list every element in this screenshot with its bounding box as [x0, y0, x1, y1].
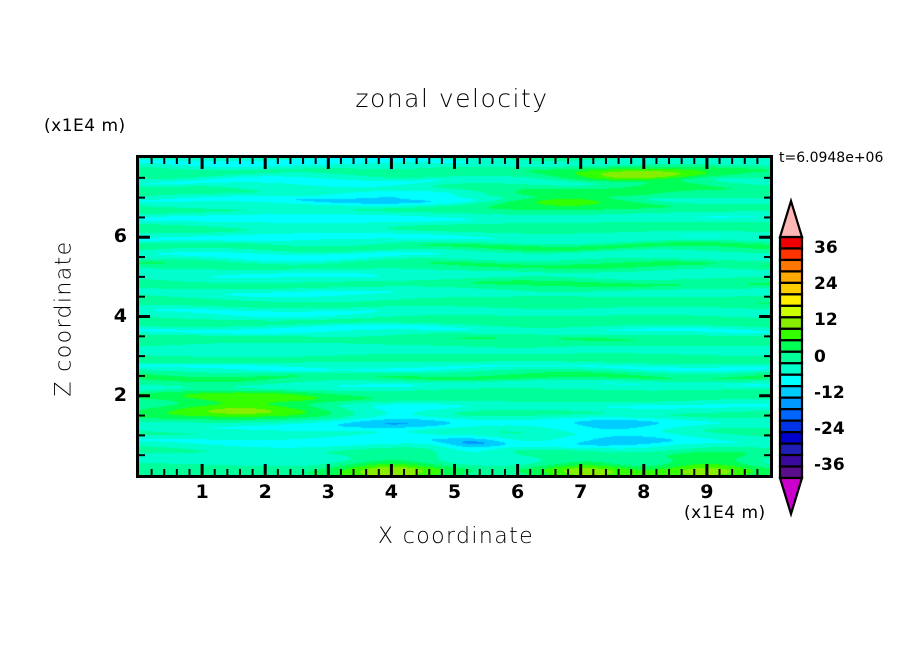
timestamp-label: t=6.0948e+06	[779, 150, 883, 166]
x-axis-unit-label: (x1E4 m)	[684, 503, 766, 523]
contour-field	[139, 158, 770, 475]
contour-figure: zonal velocity (x1E4 m) (x1E4 m) t=6.094…	[0, 0, 904, 654]
x-tick-label: 2	[250, 481, 280, 503]
colorbar-tick-label: -12	[814, 383, 845, 403]
colorbar-tick-label: 24	[814, 274, 838, 294]
colorbar-tick-label: 12	[814, 310, 838, 330]
y-axis-title: Z coordinate	[52, 239, 77, 399]
y-tick-label: 2	[97, 384, 127, 406]
y-axis-unit-label: (x1E4 m)	[44, 116, 126, 136]
plot-area	[136, 155, 773, 478]
colorbar-tick-label: 36	[814, 238, 838, 258]
page-title: zonal velocity	[0, 84, 904, 113]
colorbar-tick-label: -36	[814, 455, 845, 475]
x-tick-label: 5	[440, 481, 470, 503]
colorbar-tick-label: 0	[814, 347, 826, 367]
x-tick-label: 6	[503, 481, 533, 503]
colorbar-tick-label: -24	[814, 419, 845, 439]
x-tick-label: 3	[313, 481, 343, 503]
y-tick-label: 6	[97, 225, 127, 247]
x-tick-label: 4	[376, 481, 406, 503]
x-tick-label: 1	[187, 481, 217, 503]
y-tick-label: 4	[97, 305, 127, 327]
x-tick-label: 9	[692, 481, 722, 503]
x-tick-label: 8	[629, 481, 659, 503]
x-axis-title: X coordinate	[336, 524, 576, 549]
x-tick-label: 7	[566, 481, 596, 503]
